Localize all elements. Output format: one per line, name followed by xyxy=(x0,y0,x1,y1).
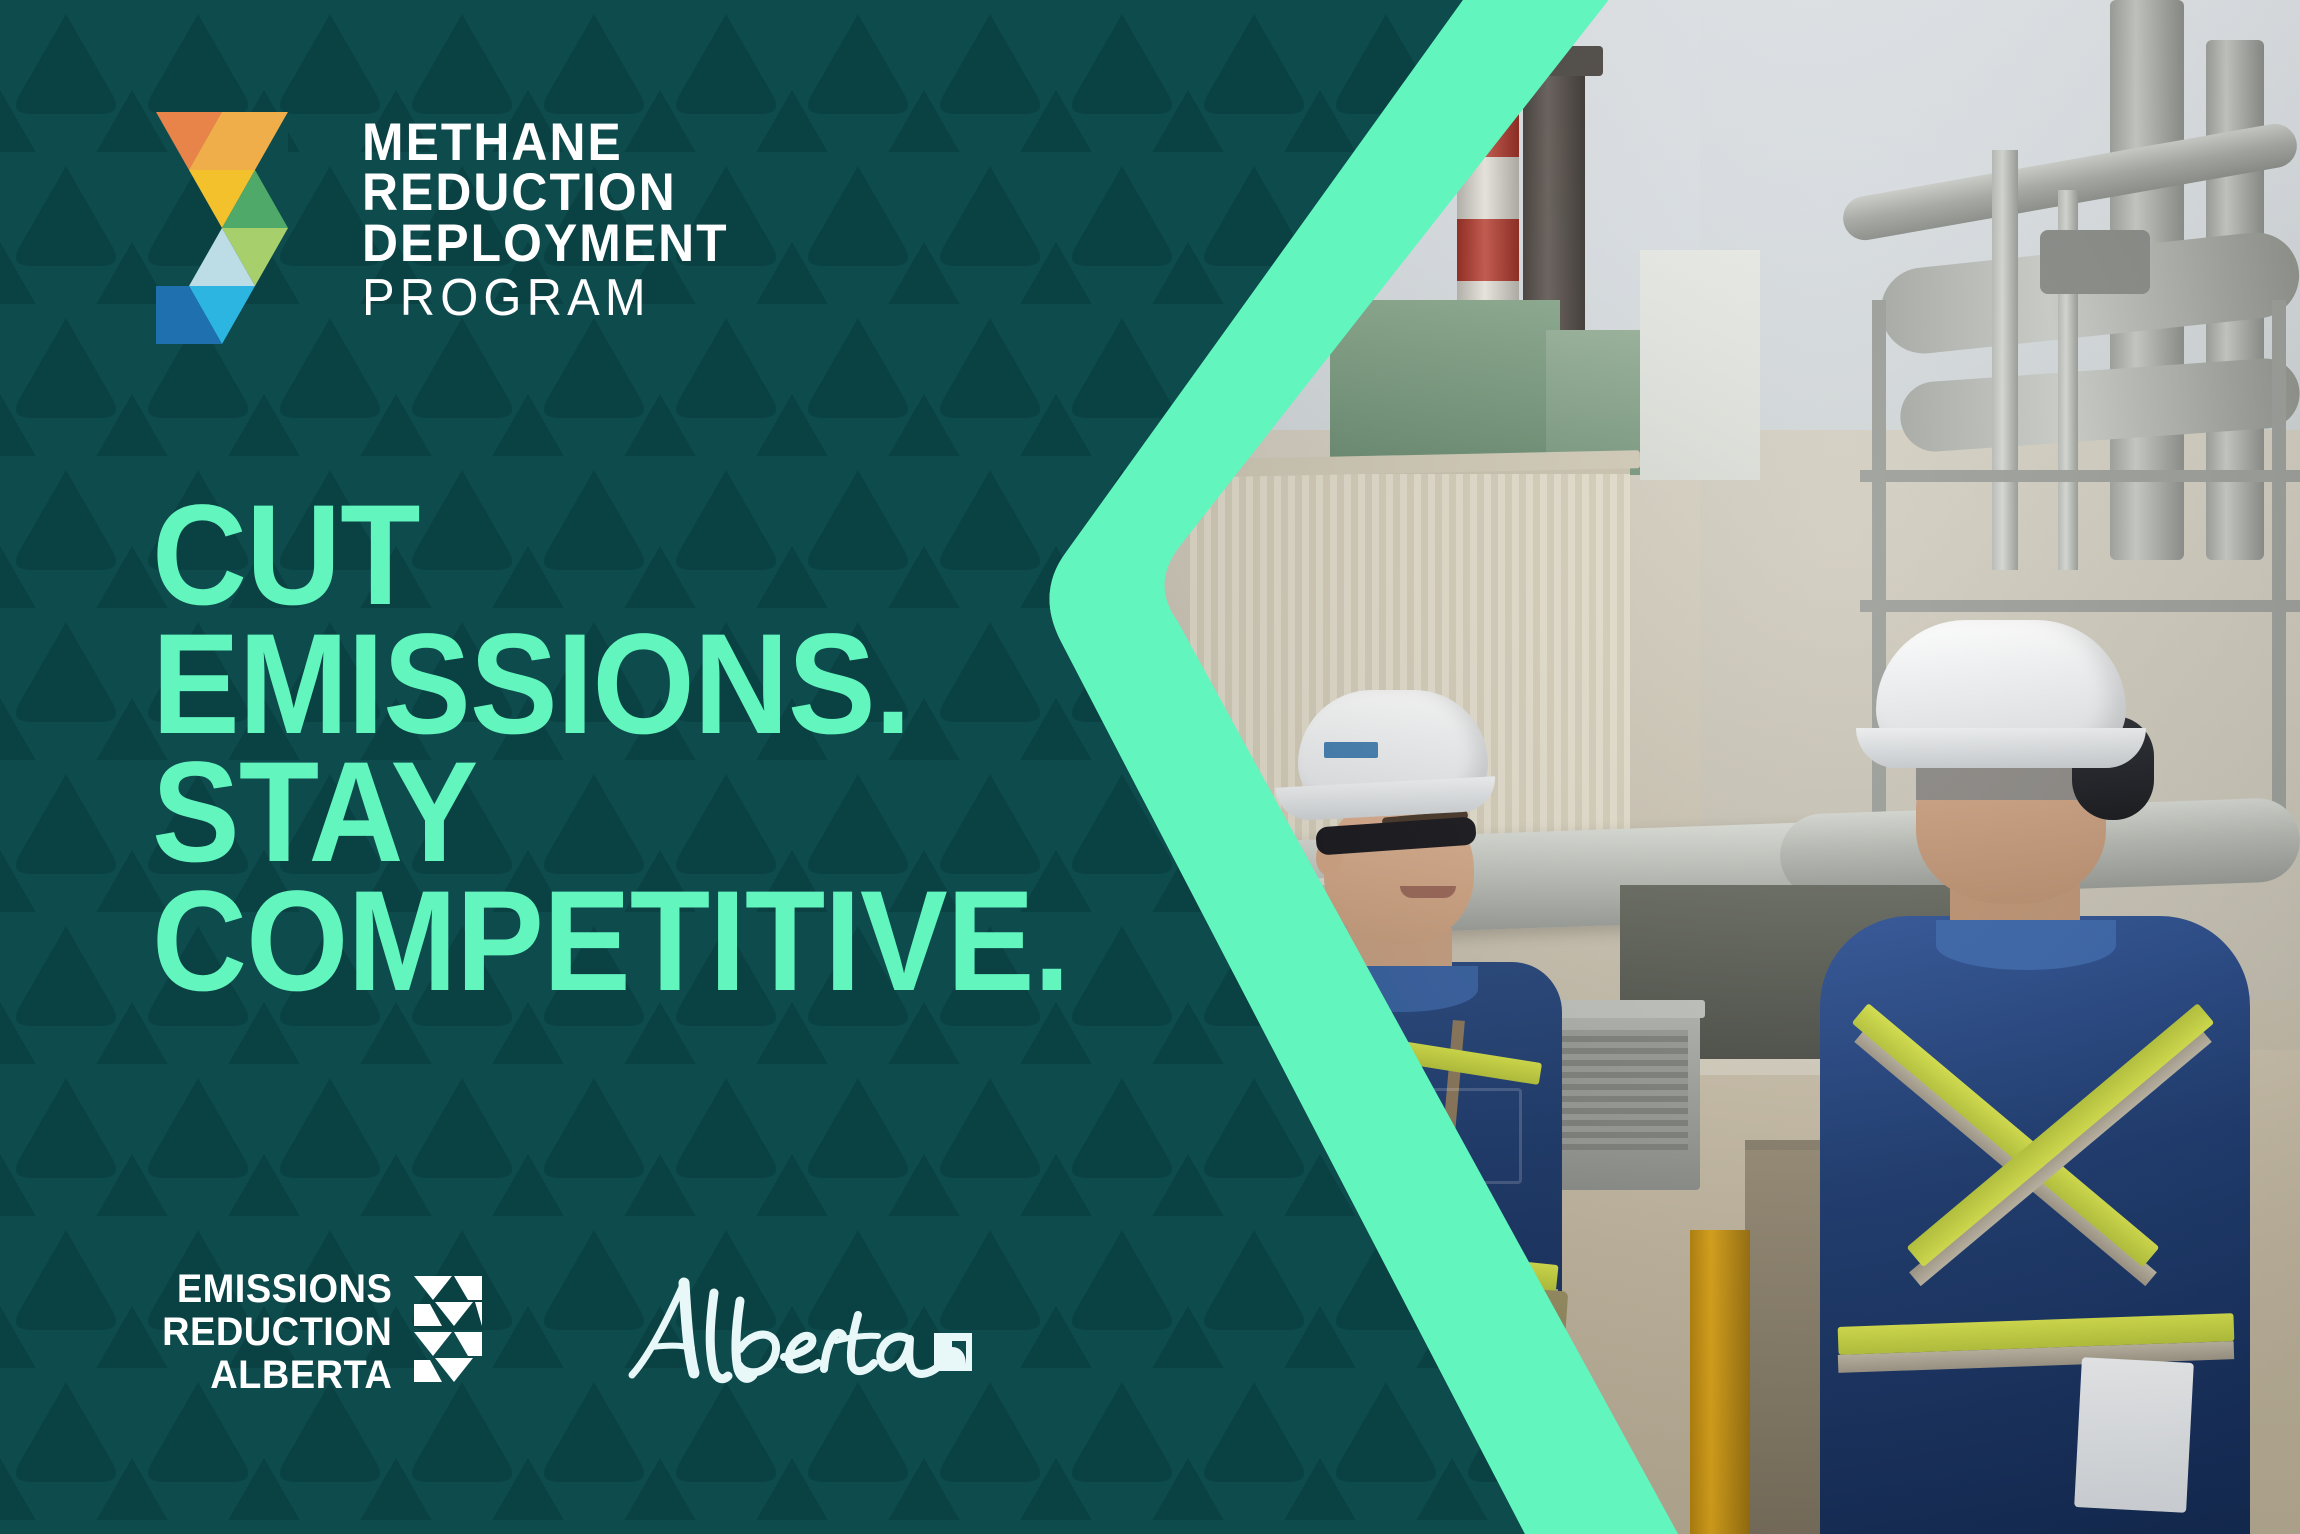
logo-subtitle: PROGRAM xyxy=(362,274,729,323)
worker-left-clipboard-clip xyxy=(1493,1388,1542,1431)
worker-foreground-left xyxy=(1232,690,1562,1534)
worker-right-hard-hat-brim xyxy=(1856,728,2146,768)
worker-left-mouth xyxy=(1400,886,1456,898)
partner-logos: EMISSIONS REDUCTION ALBERTA xyxy=(150,1268,972,1398)
worker-left-pocket xyxy=(1402,1088,1522,1184)
mrdp-promotional-banner: METHANE REDUCTION DEPLOYMENT PROGRAM CUT… xyxy=(0,0,2300,1534)
yellow-safety-post xyxy=(1690,1230,1750,1534)
logo-line-3: DEPLOYMENT xyxy=(362,219,729,269)
era-line-1: EMISSIONS xyxy=(162,1268,392,1311)
worker-right-document xyxy=(2074,1357,2194,1513)
steel-beam-1 xyxy=(1860,470,2300,482)
program-logo-lockup: METHANE REDUCTION DEPLOYMENT PROGRAM xyxy=(148,112,752,352)
alberta-government-wordmark xyxy=(622,1275,972,1387)
worker-left-hard-hat-logo xyxy=(1324,742,1378,758)
stack-cap xyxy=(1505,46,1603,76)
panel-content: METHANE REDUCTION DEPLOYMENT PROGRAM CUT… xyxy=(0,0,1200,1534)
worker-right-collar xyxy=(1936,920,2116,970)
pipe-vertical-1 xyxy=(1992,150,2018,570)
logo-line-1: METHANE xyxy=(362,118,729,168)
valve-assembly xyxy=(2040,230,2150,294)
worker-left-collar xyxy=(1328,966,1478,1012)
era-line-2: REDUCTION xyxy=(162,1311,392,1354)
page-headline: CUT EMISSIONS. STAY COMPETITIVE. xyxy=(152,492,1069,1007)
logo-line-2: REDUCTION xyxy=(362,168,729,218)
steel-beam-2 xyxy=(1860,600,2300,612)
era-line-3: ALBERTA xyxy=(162,1354,392,1397)
era-wordmark: EMISSIONS REDUCTION ALBERTA xyxy=(162,1268,392,1398)
worker-foreground-right xyxy=(1820,620,2250,1534)
mrdp-chevron-mark xyxy=(148,112,296,352)
era-triangle-mark xyxy=(414,1274,482,1392)
green-building xyxy=(1330,300,1560,470)
steel-column-2 xyxy=(2272,300,2286,820)
program-logo-wordmark: METHANE REDUCTION DEPLOYMENT PROGRAM xyxy=(362,112,752,323)
emissions-reduction-alberta-logo: EMISSIONS REDUCTION ALBERTA xyxy=(150,1268,482,1398)
white-building xyxy=(1640,250,1760,480)
